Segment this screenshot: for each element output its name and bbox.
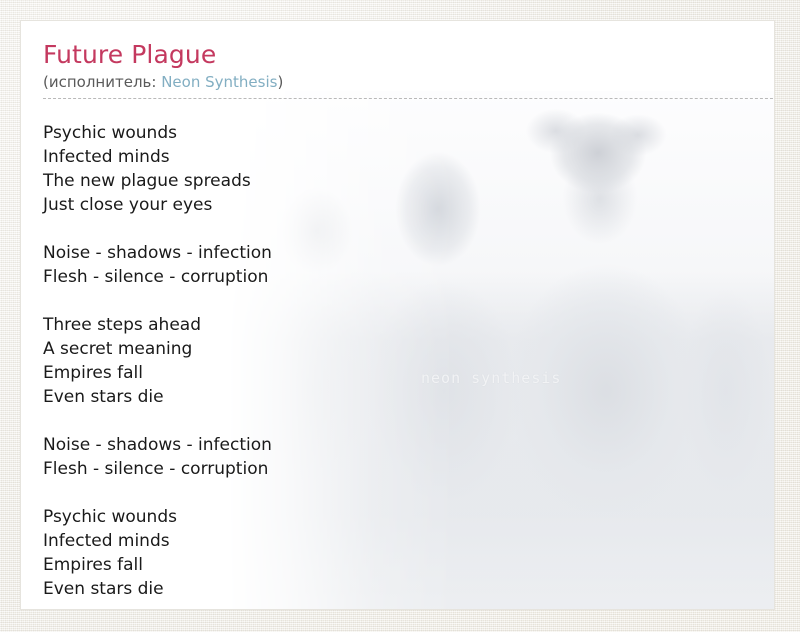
lyrics-line: Noise - shadows - infection [43, 433, 272, 457]
artist-suffix-label: ) [277, 73, 283, 91]
lyrics-line: Empires fall [43, 361, 272, 385]
lyrics-line: The new plague spreads [43, 169, 272, 193]
lyrics-line: Even stars die [43, 385, 272, 409]
tshirt-band-name-text: neon synthesis [421, 369, 561, 387]
song-header: Future Plague (исполнитель: Neon Synthes… [43, 41, 762, 99]
lyrics-stanza: Three steps aheadA secret meaningEmpires… [43, 313, 272, 409]
lyrics-line: Noise - shadows - infection [43, 241, 272, 265]
band-photo-image [226, 91, 774, 609]
lyrics-line: Psychic wounds [43, 505, 272, 529]
lyrics-line: Flesh - silence - corruption [43, 265, 272, 289]
lyrics-body: Psychic woundsInfected mindsThe new plag… [43, 121, 272, 601]
lyrics-line: Psychic wounds [43, 121, 272, 145]
band-photo: neon synthesis [226, 91, 774, 609]
artist-link[interactable]: Neon Synthesis [161, 73, 277, 91]
lyrics-line: Infected minds [43, 529, 272, 553]
lyrics-line: Empires fall [43, 553, 272, 577]
lyrics-line: Just close your eyes [43, 193, 272, 217]
lyrics-line: Three steps ahead [43, 313, 272, 337]
lyrics-stanza: Noise - shadows - infectionFlesh - silen… [43, 433, 272, 481]
lyrics-line: Even stars die [43, 577, 272, 601]
artist-line: (исполнитель: Neon Synthesis) [43, 73, 775, 99]
artist-prefix-label: (исполнитель: [43, 73, 161, 91]
lyrics-stanza: Psychic woundsInfected mindsThe new plag… [43, 121, 272, 217]
lyrics-card: neon synthesis Future Plague (исполнител… [20, 20, 775, 610]
page-title: Future Plague [43, 41, 762, 69]
lyrics-stanza: Noise - shadows - infectionFlesh - silen… [43, 241, 272, 289]
lyrics-stanza: Psychic woundsInfected mindsEmpires fall… [43, 505, 272, 601]
lyrics-line: Infected minds [43, 145, 272, 169]
lyrics-line: A secret meaning [43, 337, 272, 361]
lyrics-line: Flesh - silence - corruption [43, 457, 272, 481]
